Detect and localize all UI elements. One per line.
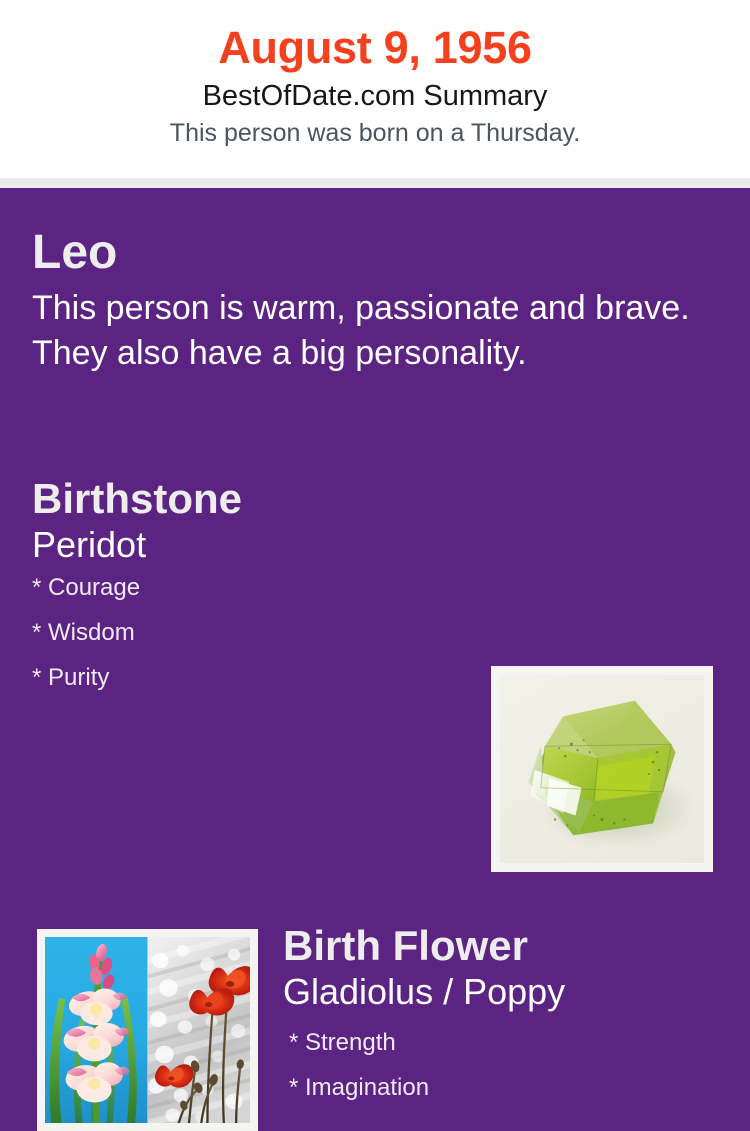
- birthday-summary-card: August 9, 1956 BestOfDate.com Summary Th…: [0, 0, 750, 1000]
- poppy-photo-half: [148, 937, 251, 1123]
- peridot-crystal-illustration: [500, 675, 704, 863]
- birthflower-photo-frame: [37, 929, 258, 1131]
- birthflower-heading: Birth Flower: [283, 924, 565, 969]
- birthstone-section: Birthstone Peridot * Courage * Wisdom * …: [32, 477, 242, 690]
- list-item: * Courage: [32, 576, 242, 600]
- page-title-date: August 9, 1956: [0, 22, 750, 74]
- site-name: BestOfDate.com Summary: [0, 77, 750, 116]
- birthflower-trait-list: * Strength * Imagination: [283, 1031, 565, 1100]
- gladiolus-and-poppy-image: [45, 937, 250, 1123]
- header: August 9, 1956 BestOfDate.com Summary Th…: [0, 0, 750, 178]
- birthstone-name: Peridot: [32, 524, 242, 566]
- peridot-gemstone-image: [500, 675, 704, 863]
- header-divider: [0, 178, 750, 188]
- list-item: * Imagination: [289, 1076, 565, 1100]
- details-panel: Leo This person is warm, passionate and …: [0, 188, 750, 1000]
- birth-weekday-note: This person was born on a Thursday.: [0, 117, 750, 151]
- gladiolus-photo-half: [45, 937, 148, 1123]
- zodiac-section: Leo This person is warm, passionate and …: [0, 188, 750, 375]
- birthstone-heading: Birthstone: [32, 477, 242, 522]
- list-item: * Wisdom: [32, 621, 242, 645]
- birthflower-name: Gladiolus / Poppy: [283, 971, 565, 1013]
- zodiac-description: This person is warm, passionate and brav…: [32, 286, 692, 374]
- birthstone-trait-list: * Courage * Wisdom * Purity: [32, 576, 242, 690]
- list-item: * Strength: [289, 1031, 565, 1055]
- zodiac-sign-name: Leo: [32, 228, 750, 278]
- birthstone-photo-frame: [491, 666, 713, 872]
- birthflower-section: Birth Flower Gladiolus / Poppy * Strengt…: [283, 924, 565, 1100]
- list-item: * Purity: [32, 666, 242, 690]
